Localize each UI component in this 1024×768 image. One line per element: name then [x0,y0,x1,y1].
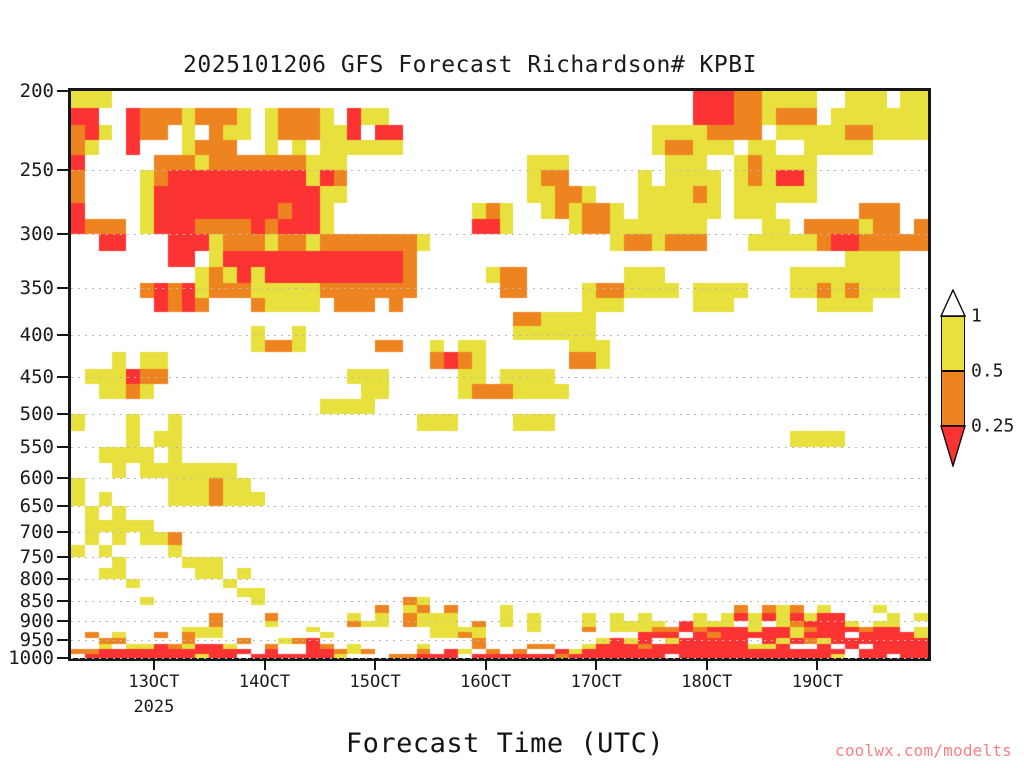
x-axis-tick-18OCT [706,661,708,670]
colorbar-segment-yellow [941,316,965,371]
y-axis-tick-250 [57,169,68,171]
y-axis-label-750: 750 [20,546,54,568]
colorbar-tick-0.5: 0.5 [971,361,1004,382]
x-axis-tick-16OCT [485,661,487,670]
x-axis-label-14OCT: 14OCT [239,672,290,692]
colorbar-tick-1: 1 [971,306,982,327]
y-axis-label-450: 450 [20,366,54,388]
y-axis-tick-300 [57,233,68,235]
y-axis-tick-800 [57,578,68,580]
y-axis-tick-400 [57,334,68,336]
y-axis-label-650: 650 [20,495,54,517]
heatmap-canvas-layer [71,91,928,658]
y-axis-tick-750 [57,556,68,558]
x-axis-year-label: 2025 [133,697,174,717]
y-axis-label-500: 500 [20,403,54,425]
y-axis-tick-600 [57,477,68,479]
y-axis-tick-1000 [57,657,68,659]
colorbar-bottom-outline [940,425,966,467]
x-axis-label-18OCT: 18OCT [681,672,732,692]
y-axis-label-700: 700 [20,521,54,543]
y-axis-label-600: 600 [20,467,54,489]
colorbar: 1 0.5 0.25 [941,316,965,426]
x-axis-label-19OCT: 19OCT [792,672,843,692]
y-axis-label-1000: 1000 [8,647,54,669]
x-axis-label-13OCT: 13OCT [128,672,179,692]
y-axis-tick-500 [57,413,68,415]
y-axis-tick-950 [57,639,68,641]
colorbar-tick-0.25: 0.25 [971,416,1014,437]
richardson-heatmap [71,91,928,658]
site-watermark: coolwx.com/modelts [835,741,1012,760]
y-axis-tick-550 [57,446,68,448]
x-axis-tick-17OCT [595,661,597,670]
y-axis-label-800: 800 [20,568,54,590]
chart-title: 2025101206 GFS Forecast Richardson# KPBI [0,52,940,78]
x-axis-tick-15OCT [374,661,376,670]
y-axis-label-200: 200 [20,80,54,102]
y-axis-label-400: 400 [20,324,54,346]
y-axis-label-250: 250 [20,159,54,181]
chart-page: 2025101206 GFS Forecast Richardson# KPBI… [0,0,1024,768]
plot-area [68,88,931,661]
x-axis-label-16OCT: 16OCT [460,672,511,692]
x-axis: 13OCT202514OCT15OCT16OCT17OCT18OCT19OCT [68,661,931,721]
x-axis-label-15OCT: 15OCT [350,672,401,692]
y-axis-tick-200 [57,90,68,92]
y-axis-tick-900 [57,620,68,622]
colorbar-segment-orange [941,371,965,426]
y-axis-tick-700 [57,531,68,533]
y-axis-label-850: 850 [20,590,54,612]
x-axis-label-17OCT: 17OCT [571,672,622,692]
x-axis-tick-19OCT [816,661,818,670]
gridline-1000 [71,658,928,659]
y-axis: 2002503003504004505005506006507007508008… [0,88,68,661]
y-axis-label-350: 350 [20,277,54,299]
x-axis-tick-14OCT [264,661,266,670]
y-axis-tick-450 [57,376,68,378]
y-axis-label-550: 550 [20,436,54,458]
x-axis-tick-13OCT [153,661,155,670]
colorbar-top-outline [940,289,966,317]
y-axis-tick-350 [57,287,68,289]
y-axis-tick-850 [57,600,68,602]
y-axis-tick-650 [57,505,68,507]
y-axis-label-300: 300 [20,223,54,245]
